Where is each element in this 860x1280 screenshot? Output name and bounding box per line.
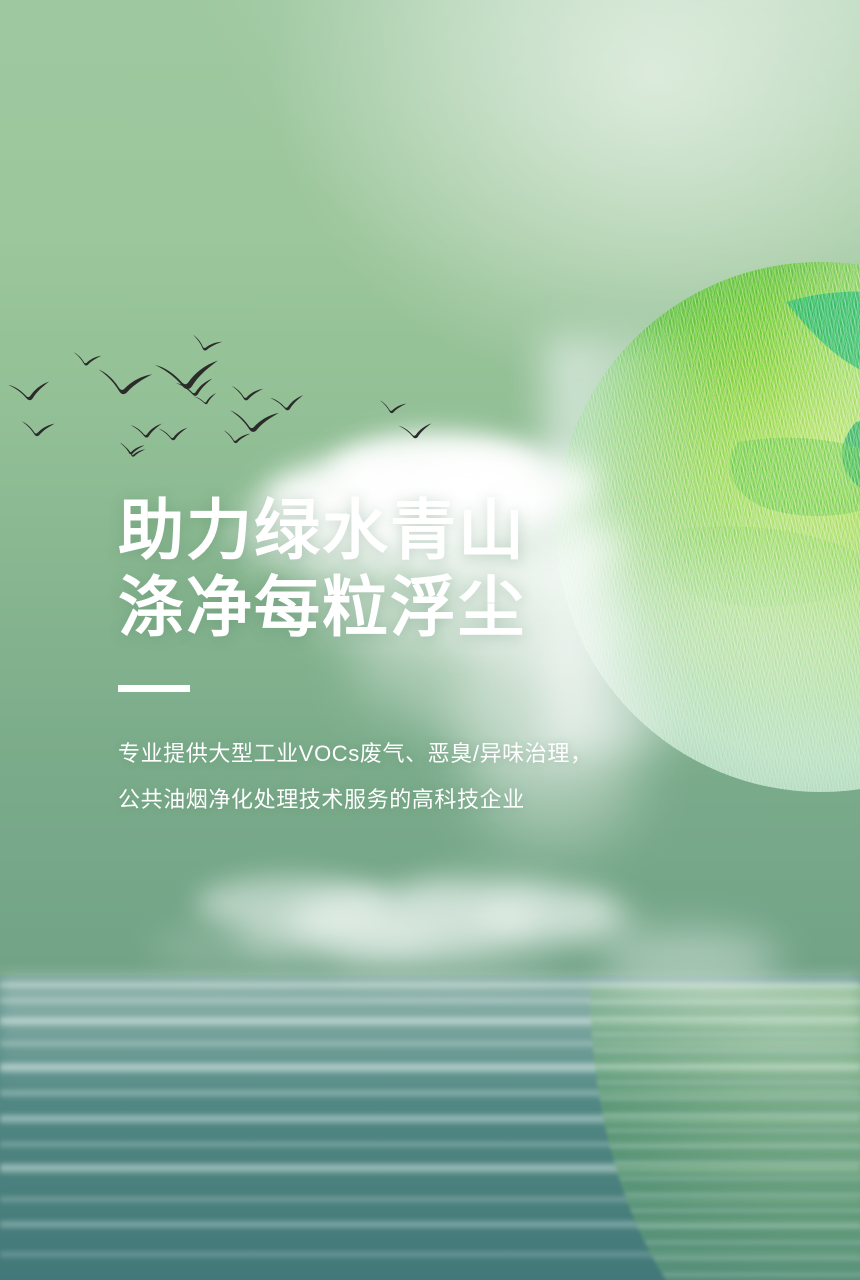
subtitle-line-2: 公共油烟净化处理技术服务的高科技企业 <box>118 780 678 820</box>
poster-text-block: 助力绿水青山 涤净每粒浮尘 专业提供大型工业VOCs废气、恶臭/异味治理， 公共… <box>118 492 678 820</box>
headline-divider <box>118 685 190 692</box>
bird-icon-1 <box>7 378 54 408</box>
bird-icon-10 <box>188 333 224 359</box>
bird-icon-18 <box>377 399 408 421</box>
bird-icon-8 <box>158 425 190 446</box>
bird-icon-5 <box>19 419 56 443</box>
headline-line-1: 助力绿水青山 <box>118 492 678 569</box>
mist-cloud-5 <box>478 886 618 938</box>
flying-birds-flock <box>0 330 480 460</box>
bird-icon-11 <box>153 355 224 398</box>
mist-cloud-6 <box>520 900 640 944</box>
mist-cloud-9 <box>150 930 310 966</box>
bird-icon-3 <box>95 366 155 402</box>
bird-icon-4 <box>129 421 164 444</box>
headline-line-2: 涤净每粒浮尘 <box>118 569 678 646</box>
bird-icon-15 <box>269 392 307 417</box>
bird-icon-6 <box>175 375 217 404</box>
mist-cloud-4 <box>404 872 554 918</box>
subtitle-line-1: 专业提供大型工业VOCs废气、恶臭/异味治理， <box>118 734 678 774</box>
water-surface <box>0 975 860 1280</box>
bird-icon-13 <box>193 390 220 412</box>
mist-cloud-3 <box>236 908 436 960</box>
bird-icon-17 <box>397 420 434 445</box>
bird-icon-12 <box>229 384 264 407</box>
mist-cloud-7 <box>330 930 560 974</box>
bird-icon-7 <box>117 441 146 461</box>
mist-cloud-1 <box>196 876 386 932</box>
mist-cloud-2 <box>290 888 540 954</box>
bird-icon-14 <box>227 407 281 439</box>
eco-marketing-poster: 助力绿水青山 涤净每粒浮尘 专业提供大型工业VOCs废气、恶臭/异味治理， 公共… <box>0 0 860 1280</box>
bird-icon-2 <box>71 350 103 372</box>
bird-icon-9 <box>221 429 252 451</box>
bird-icon-16 <box>121 442 147 463</box>
